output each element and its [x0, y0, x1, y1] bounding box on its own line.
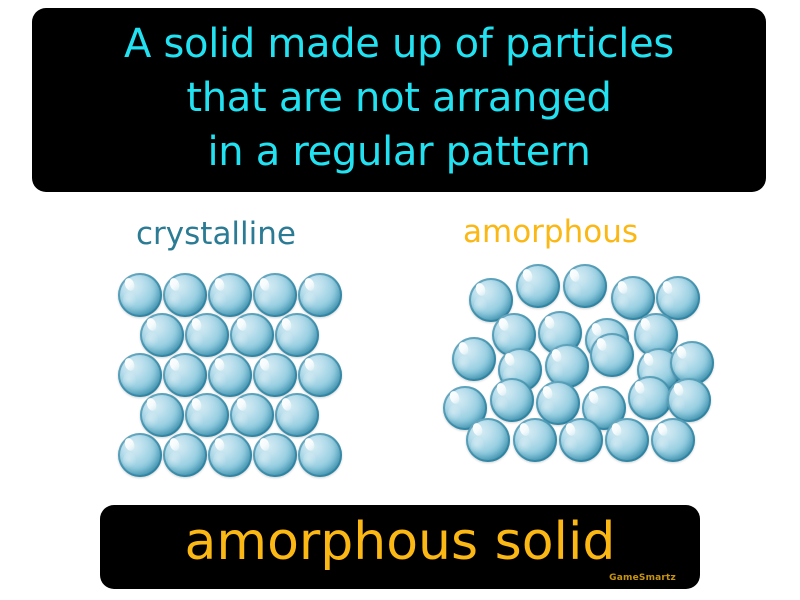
- amorphous-particle: [538, 311, 582, 355]
- crystalline-particle: [140, 393, 184, 437]
- crystalline-particle: [275, 393, 319, 437]
- amorphous-particle: [656, 276, 700, 320]
- crystalline-particle-lattice: [0, 196, 800, 498]
- crystalline-particle: [253, 353, 297, 397]
- crystalline-particle: [163, 433, 207, 477]
- crystalline-particle: [298, 433, 342, 477]
- amorphous-particle: [637, 348, 681, 392]
- amorphous-particle: [634, 313, 678, 357]
- amorphous-particle: [536, 381, 580, 425]
- amorphous-particle: [469, 278, 513, 322]
- amorphous-particle: [492, 313, 536, 357]
- definition-line-1: A solid made up of particles: [124, 17, 674, 71]
- amorphous-particle: [611, 276, 655, 320]
- crystalline-panel-label: crystalline: [136, 216, 296, 252]
- amorphous-particle: [452, 337, 496, 381]
- amorphous-particle: [628, 376, 672, 420]
- amorphous-particle: [670, 341, 714, 385]
- amorphous-particle: [605, 418, 649, 462]
- crystalline-particle: [208, 433, 252, 477]
- amorphous-particle: [513, 418, 557, 462]
- definition-line-3: in a regular pattern: [207, 125, 590, 179]
- term-banner: amorphous solid GameSmartz: [100, 505, 700, 589]
- crystalline-particle: [185, 393, 229, 437]
- crystalline-particle: [298, 273, 342, 317]
- amorphous-particle: [667, 378, 711, 422]
- amorphous-particle: [443, 386, 487, 430]
- crystalline-particle: [230, 313, 274, 357]
- amorphous-particle: [490, 378, 534, 422]
- crystalline-particle: [230, 393, 274, 437]
- watermark-label: GameSmartz: [609, 573, 676, 583]
- crystalline-particle: [253, 273, 297, 317]
- definition-banner: A solid made up of particles that are no…: [32, 8, 766, 192]
- term-title: amorphous solid: [100, 511, 700, 573]
- crystalline-particle: [118, 433, 162, 477]
- crystalline-particle: [118, 273, 162, 317]
- amorphous-panel-label: amorphous: [463, 214, 638, 250]
- crystalline-particle: [140, 313, 184, 357]
- amorphous-particle: [498, 348, 542, 392]
- crystalline-particle: [185, 313, 229, 357]
- crystalline-particle: [275, 313, 319, 357]
- amorphous-particle: [582, 386, 626, 430]
- amorphous-particle: [466, 418, 510, 462]
- crystalline-particle: [163, 273, 207, 317]
- crystalline-particle: [118, 353, 162, 397]
- amorphous-particle: [563, 264, 607, 308]
- amorphous-particle: [585, 318, 629, 362]
- amorphous-particle: [516, 264, 560, 308]
- particle-arrangement-illustration: crystalline amorphous: [0, 196, 800, 498]
- amorphous-particle: [545, 344, 589, 388]
- amorphous-particle: [559, 418, 603, 462]
- crystalline-particle: [208, 353, 252, 397]
- crystalline-particle: [253, 433, 297, 477]
- amorphous-particle-cluster: [0, 196, 800, 498]
- amorphous-particle: [651, 418, 695, 462]
- amorphous-particle: [590, 333, 634, 377]
- crystalline-particle: [298, 353, 342, 397]
- crystalline-particle: [208, 273, 252, 317]
- definition-line-2: that are not arranged: [186, 71, 611, 125]
- crystalline-particle: [163, 353, 207, 397]
